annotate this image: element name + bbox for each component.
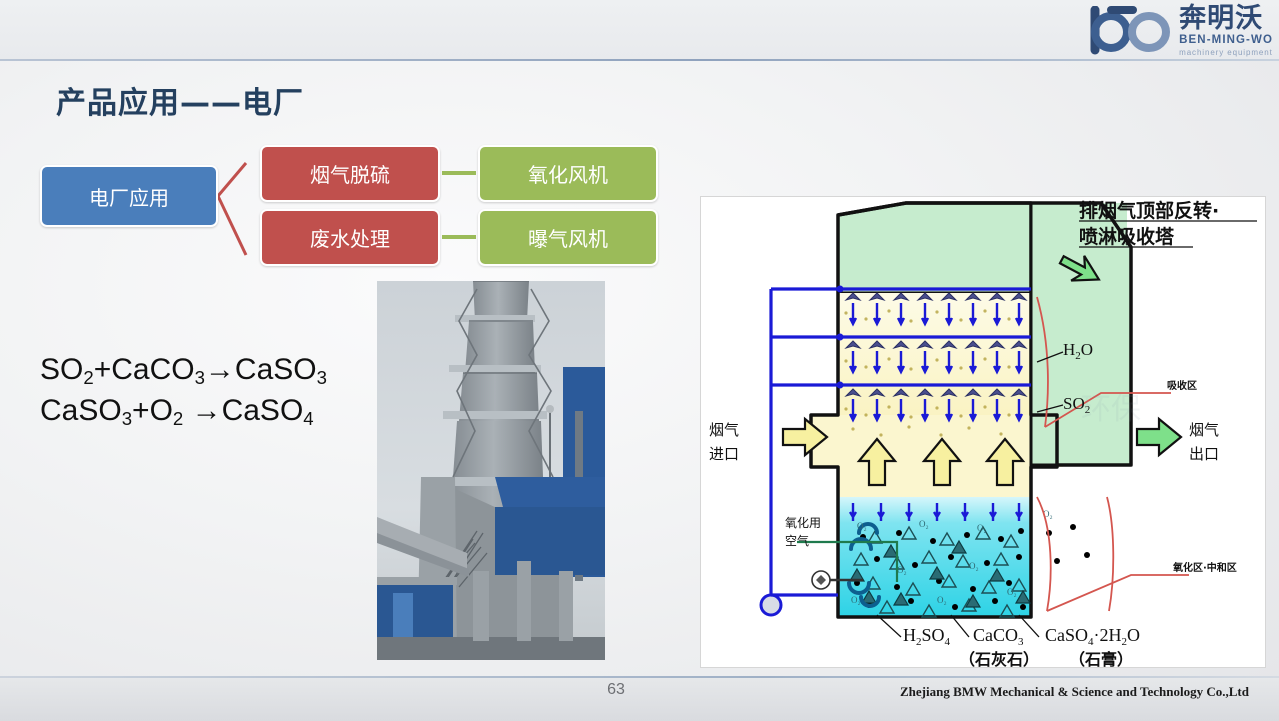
label-inlet-line2: 进口 — [709, 445, 739, 463]
equation-2: CaSO3+O2 →CaSO4 — [40, 391, 380, 432]
flow-node-desulfurization[interactable]: 烟气脱硫 — [260, 145, 440, 202]
label-oxidation-air-line2: 空气 — [785, 533, 809, 548]
label-absorption-zone: 吸收区 — [1167, 379, 1197, 392]
diagram-title-line1: 排烟气顶部反转· — [1079, 199, 1219, 222]
footer-company-name: Zhejiang BMW Mechanical & Science and Te… — [900, 684, 1249, 700]
label-oxidation-air-line1: 氧化用 — [785, 516, 821, 530]
svg-text:O₂: O₂ — [969, 561, 979, 571]
svg-text:环保: 环保 — [1081, 392, 1141, 427]
page-title: 产品应用——电厂 — [56, 78, 304, 122]
absorber-tower-diagram: O₂O₂ O₂O₂ O₂O₂ O₂O₂ O₂ — [700, 196, 1266, 668]
svg-text:O₂: O₂ — [857, 521, 867, 531]
svg-text:O₂: O₂ — [937, 595, 947, 605]
flow-node-oxidation-fan[interactable]: 氧化风机 — [478, 145, 658, 202]
flow-node-aeration-fan[interactable]: 曝气风机 — [478, 209, 658, 266]
label-limestone-cn: （石灰石） — [959, 650, 1039, 667]
slide: 奔明沃 BEN-MING-WO machinery equipment 产品应用… — [0, 0, 1279, 720]
label-gypsum-cn: （石膏） — [1069, 650, 1133, 667]
label-caco3: CaCO3 — [973, 625, 1024, 648]
plant-photo — [377, 281, 605, 660]
label-inlet-line1: 烟气 — [709, 421, 739, 439]
chemical-equations: SO2+CaCO3→CaSO3 CaSO3+O2 →CaSO4 — [40, 350, 380, 432]
flow-chart: 电厂应用 烟气脱硫 废水处理 氧化风机 曝气风机 — [40, 143, 680, 278]
svg-text:O₂: O₂ — [897, 565, 907, 575]
company-logo: 奔明沃 BEN-MING-WO machinery equipment — [1041, 2, 1273, 60]
logo-chinese-name: 奔明沃 — [1179, 5, 1263, 32]
label-outlet-line1: 烟气 — [1189, 421, 1219, 439]
svg-text:O₂: O₂ — [851, 595, 861, 605]
svg-text:O₂: O₂ — [919, 519, 929, 529]
bo-monogram-icon — [1085, 6, 1181, 56]
page-number: 63 — [596, 681, 636, 699]
footer-divider — [0, 676, 1279, 678]
flow-node-wastewater[interactable]: 废水处理 — [260, 209, 440, 266]
logo-tagline: machinery equipment — [1179, 49, 1273, 57]
diagram-title-line2: 喷淋吸收塔 — [1079, 225, 1175, 248]
svg-text:O₂: O₂ — [1007, 587, 1017, 597]
label-oxidation-neutral-zone: 氧化区·中和区 — [1172, 561, 1237, 574]
equation-1: SO2+CaCO3→CaSO3 — [40, 350, 380, 391]
label-h2so4: H2SO4 — [903, 625, 951, 648]
logo-english-name: BEN-MING-WO — [1179, 35, 1273, 47]
flow-node-root[interactable]: 电厂应用 — [40, 165, 218, 227]
label-outlet-line2: 出口 — [1189, 445, 1219, 463]
svg-text:O₂: O₂ — [977, 523, 987, 533]
